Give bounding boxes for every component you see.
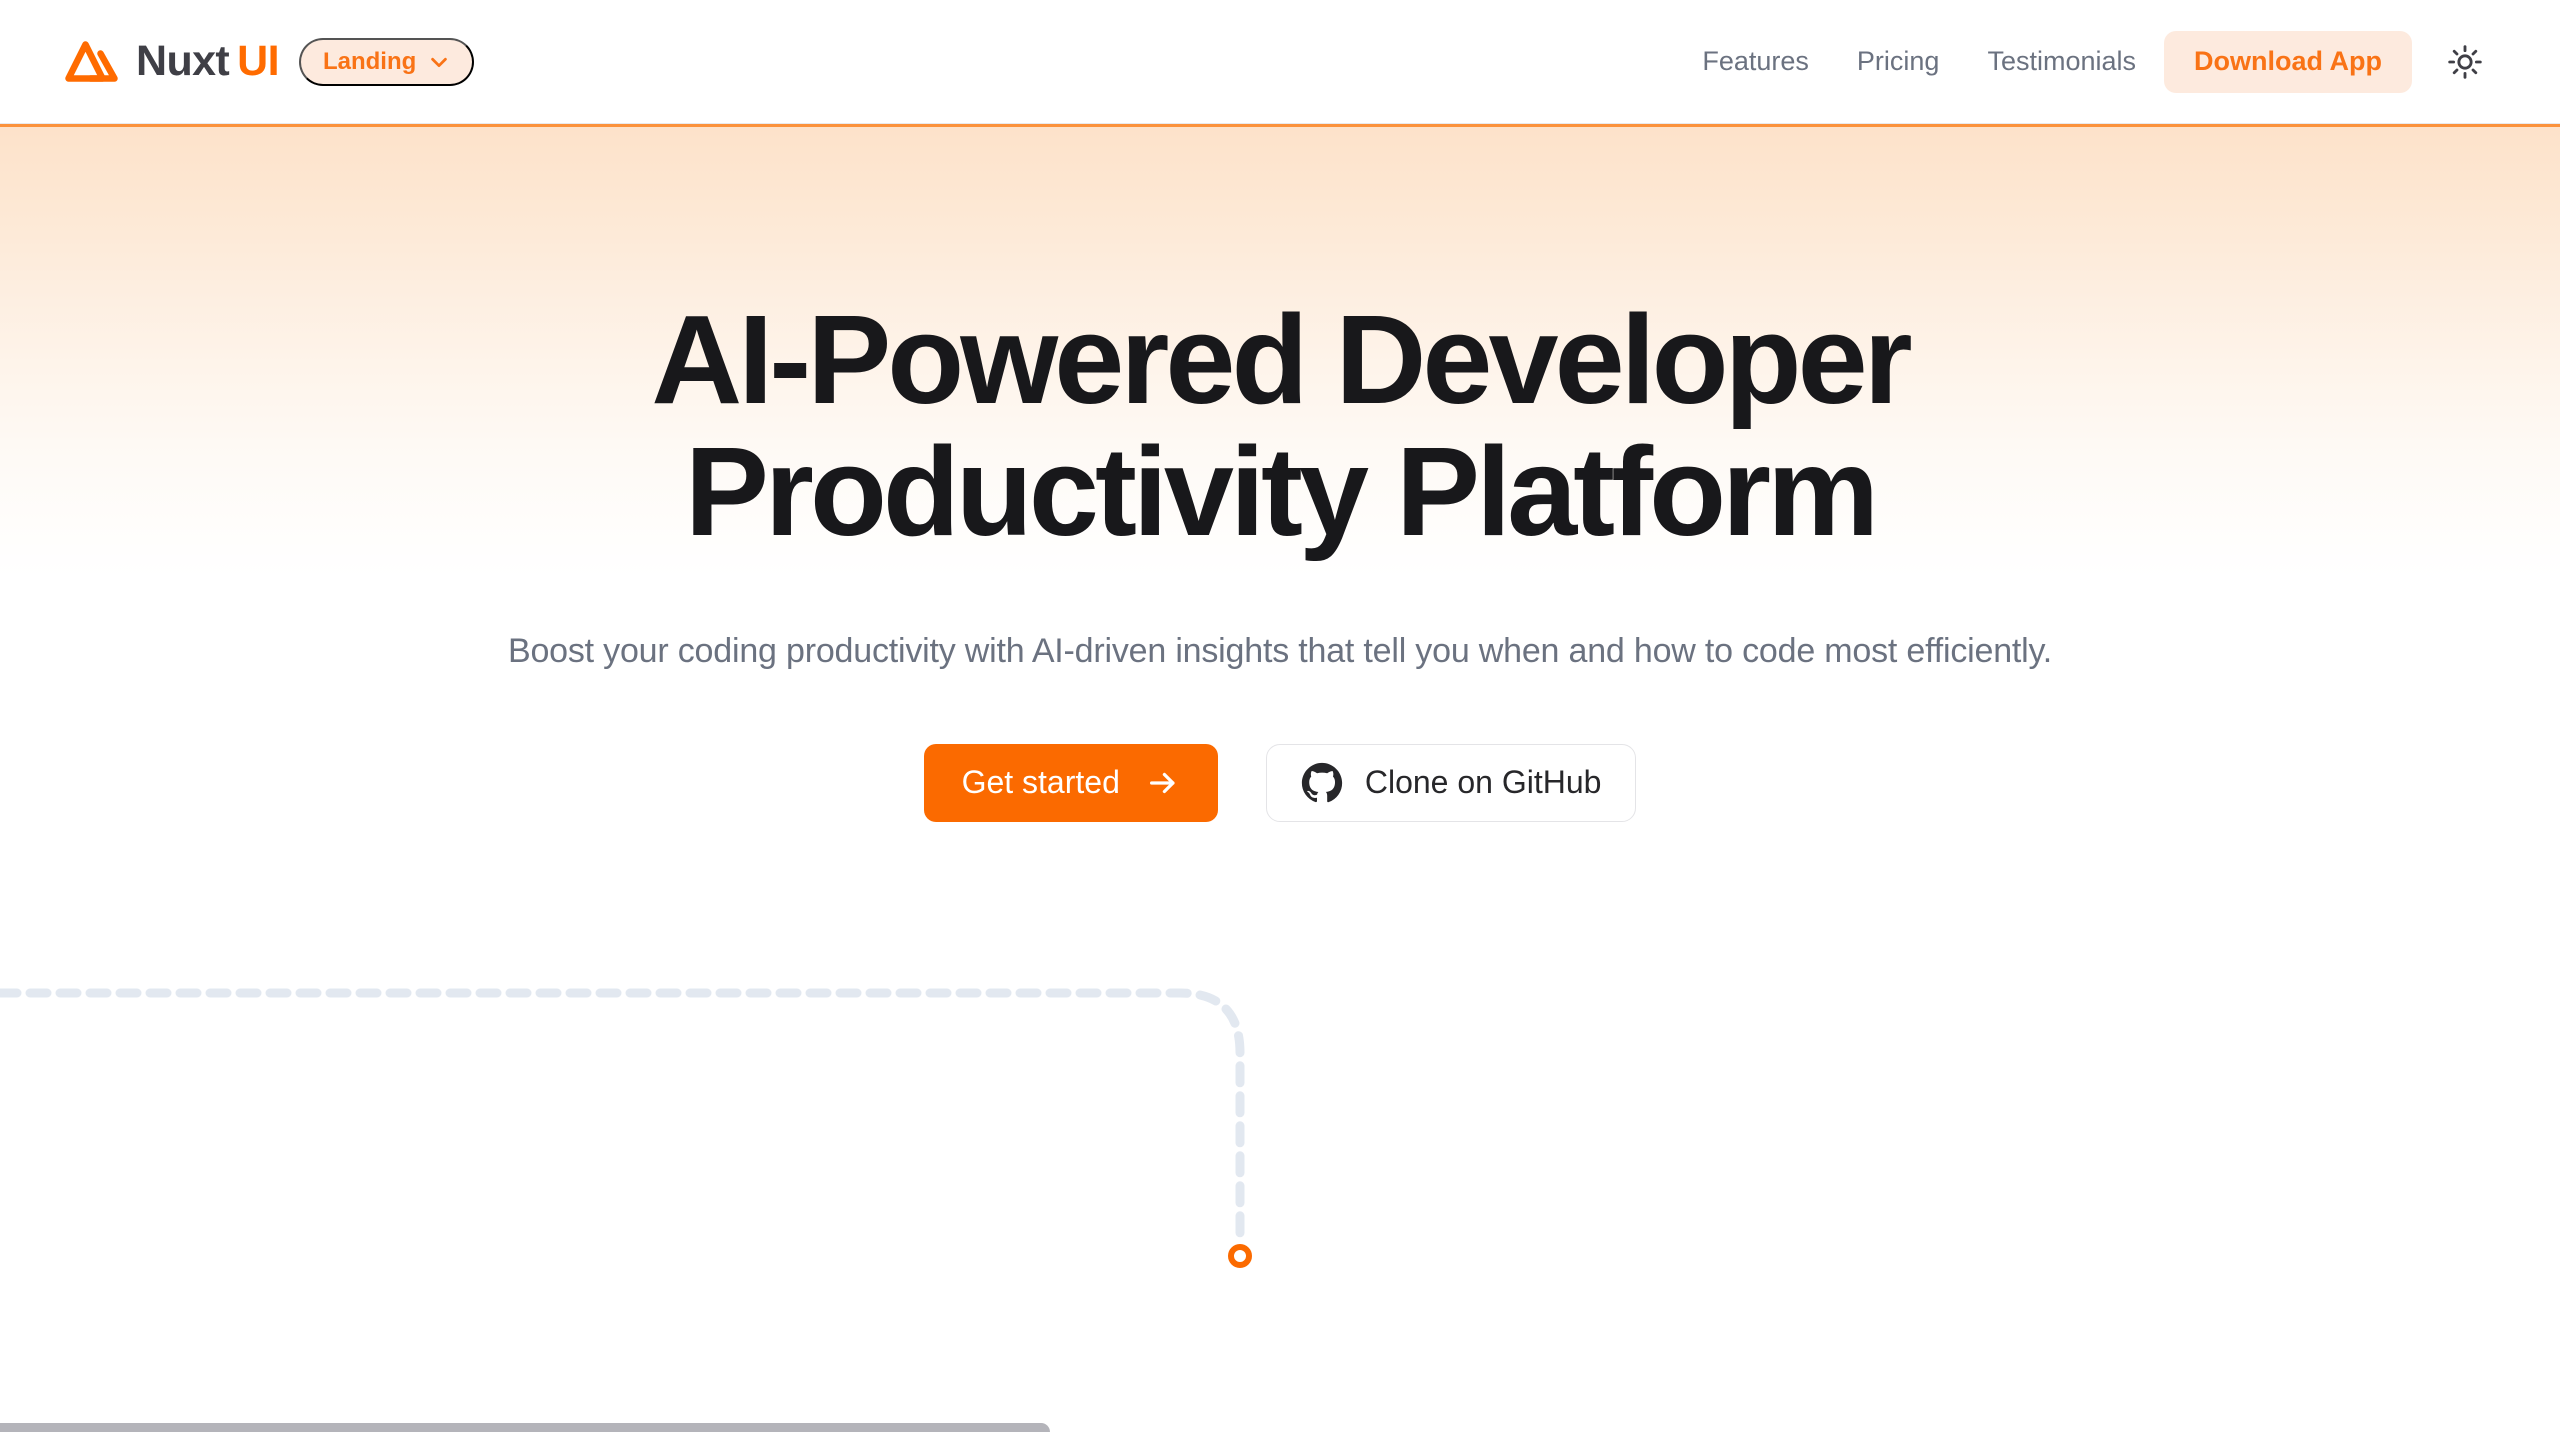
landing-page-selector[interactable]: Landing (299, 38, 474, 86)
landing-badge-label: Landing (323, 48, 416, 76)
sun-icon (2447, 44, 2483, 80)
github-icon (1301, 762, 1343, 804)
logo-text-accent: UI (237, 37, 279, 85)
hero-cta-group: Get started Clone on GitHub (0, 744, 2560, 822)
orange-ring-node (1231, 1247, 1249, 1265)
page-title: AI-Powered Developer Productivity Platfo… (430, 124, 2130, 559)
primary-navigation: Features Pricing Testimonials Download A… (1678, 31, 2496, 93)
landing-page: NuxtUI Landing Features Pricing Testimon… (0, 0, 2560, 1440)
theme-toggle-button[interactable] (2434, 31, 2496, 93)
logo-text-primary: Nuxt (136, 37, 229, 85)
arrow-right-icon (1146, 766, 1180, 800)
header-left-group: NuxtUI Landing (64, 38, 474, 86)
chevron-down-icon (428, 51, 450, 73)
nav-item-features[interactable]: Features (1678, 46, 1833, 77)
download-app-button[interactable]: Download App (2164, 31, 2412, 93)
nuxt-mountain-icon (64, 40, 122, 84)
clone-on-github-button[interactable]: Clone on GitHub (1266, 744, 1637, 822)
logo-link[interactable]: NuxtUI (64, 40, 279, 84)
get-started-button[interactable]: Get started (924, 744, 1218, 822)
site-header: NuxtUI Landing Features Pricing Testimon… (0, 0, 2560, 124)
get-started-label: Get started (962, 764, 1120, 801)
nav-item-testimonials[interactable]: Testimonials (1963, 46, 2164, 77)
hero-subtitle: Boost your coding productivity with AI-d… (255, 627, 2305, 676)
content-card-top-edge (0, 1423, 1050, 1432)
nav-item-pricing[interactable]: Pricing (1833, 46, 1964, 77)
logo-wordmark: NuxtUI (136, 40, 279, 83)
clone-github-label: Clone on GitHub (1365, 764, 1602, 801)
dashed-connector-path (0, 930, 1400, 1330)
hero-section: AI-Powered Developer Productivity Platfo… (0, 124, 2560, 822)
